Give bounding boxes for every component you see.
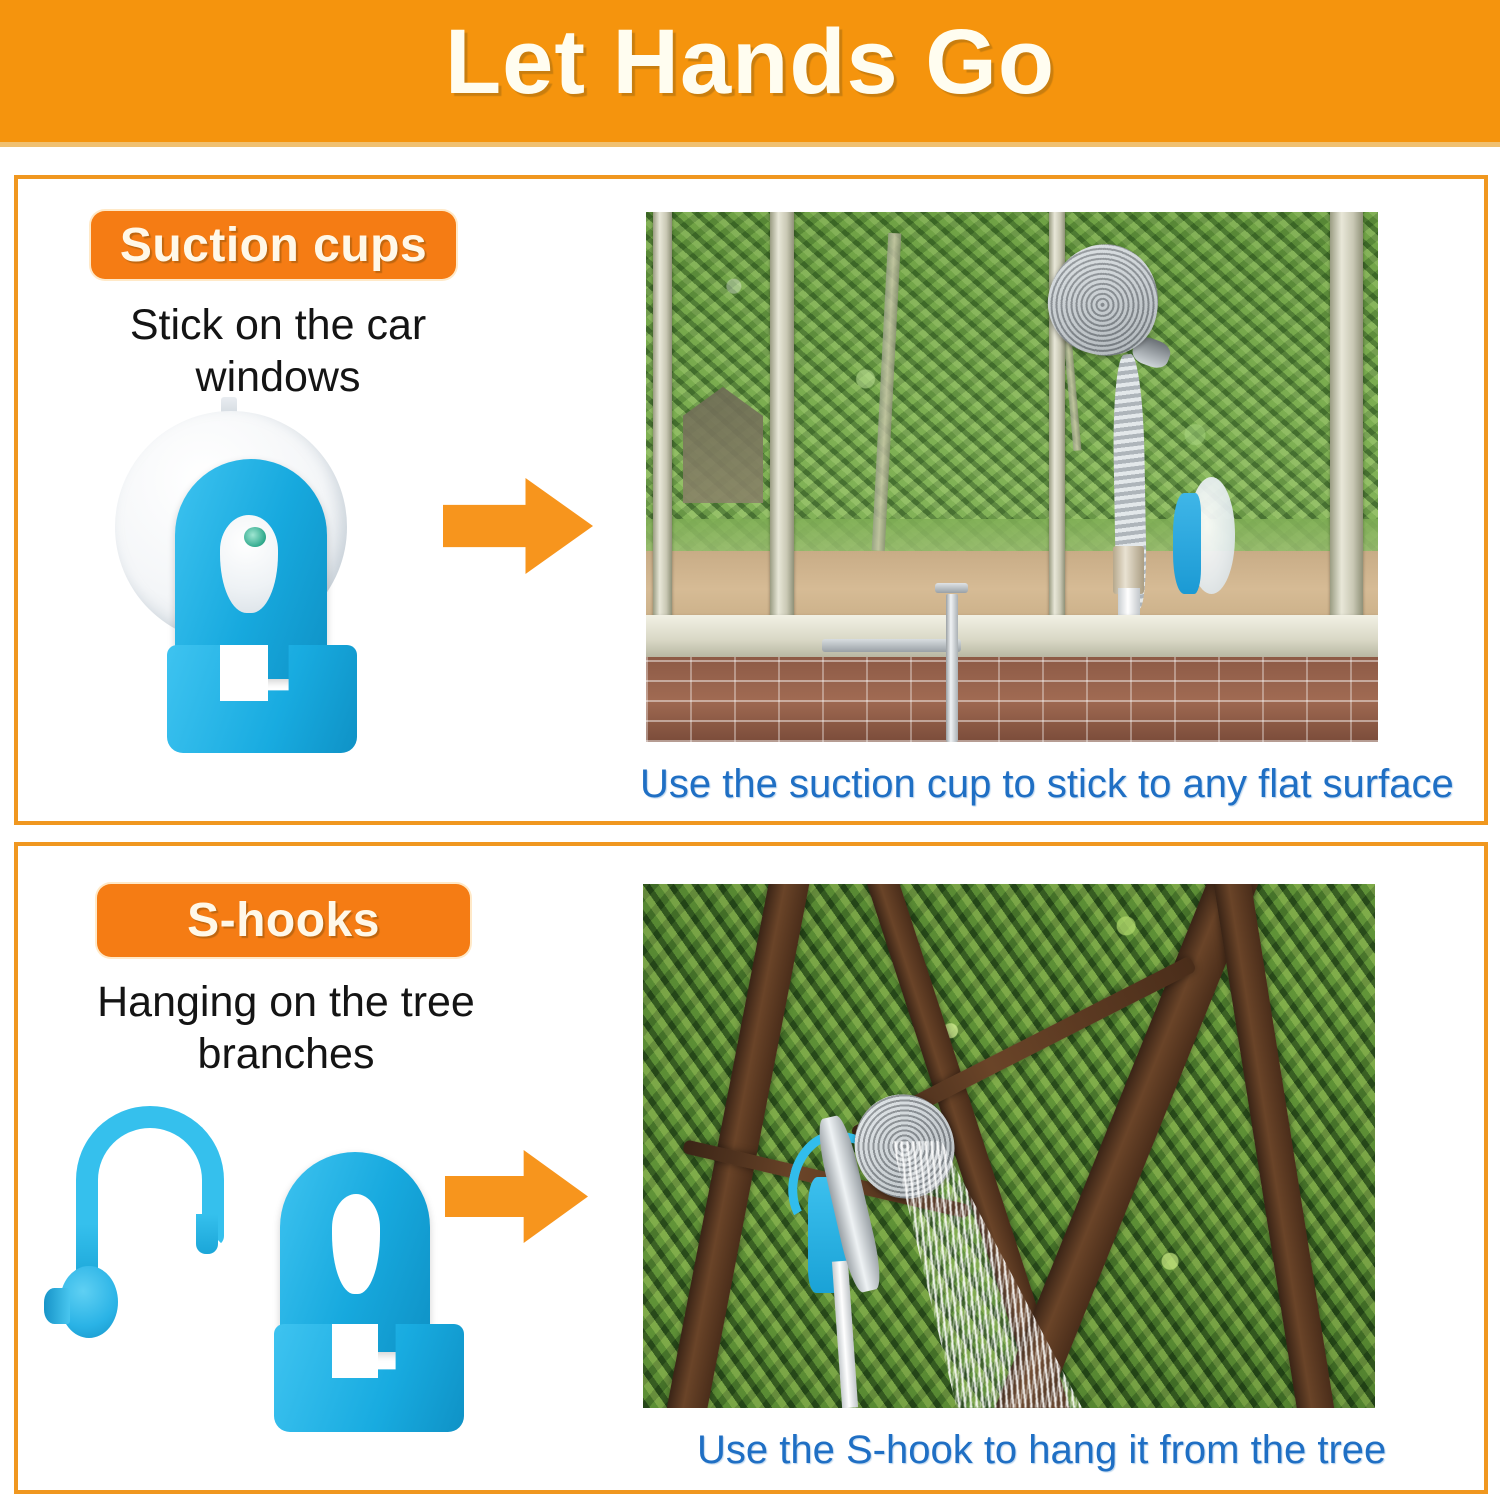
header-underline — [0, 142, 1500, 147]
s-hook-bracket-cradle-notch — [332, 1324, 378, 1378]
badge-s-hooks-label: S-hooks — [187, 893, 380, 948]
s-hook-tail — [196, 1214, 218, 1254]
faucet-stem — [946, 594, 958, 742]
badge-suction-cups: Suction cups — [91, 211, 456, 279]
brick-wall — [646, 657, 1378, 742]
faucet-knob — [935, 583, 968, 593]
subtitle-suction-cups: Stick on the car windows — [78, 299, 478, 403]
badge-suction-cups-label: Suction cups — [120, 218, 427, 273]
photo-tree-hung-shower — [643, 884, 1375, 1408]
s-hook-base-nub — [44, 1288, 70, 1324]
bracket-cradle-notch — [220, 645, 268, 701]
faucet-arm — [822, 639, 961, 653]
window-sill — [646, 615, 1378, 660]
caption-s-hooks: Use the S-hook to hang it from the tree — [697, 1428, 1386, 1473]
window-frame-right — [1330, 212, 1363, 647]
window-frame-left — [653, 212, 672, 636]
window-mullion-1 — [770, 212, 793, 636]
caption-suction-cups: Use the suction cup to stick to any flat… — [640, 762, 1454, 807]
mounted-bracket-clip — [1173, 493, 1201, 594]
subtitle-s-hooks: Hanging on the tree branches — [76, 976, 496, 1080]
shower-hose-cuff — [1113, 546, 1144, 594]
photo-window-mounted-shower — [646, 212, 1378, 742]
badge-s-hooks: S-hooks — [97, 884, 470, 957]
infographic-page: Let Hands Go Suction cups Stick on the c… — [0, 0, 1500, 1500]
header-banner: Let Hands Go — [0, 0, 1500, 142]
product-image-suction-cup-bracket — [113, 397, 423, 787]
page-title: Let Hands Go — [0, 2, 1500, 122]
product-image-s-hook-and-bracket — [48, 1096, 468, 1456]
